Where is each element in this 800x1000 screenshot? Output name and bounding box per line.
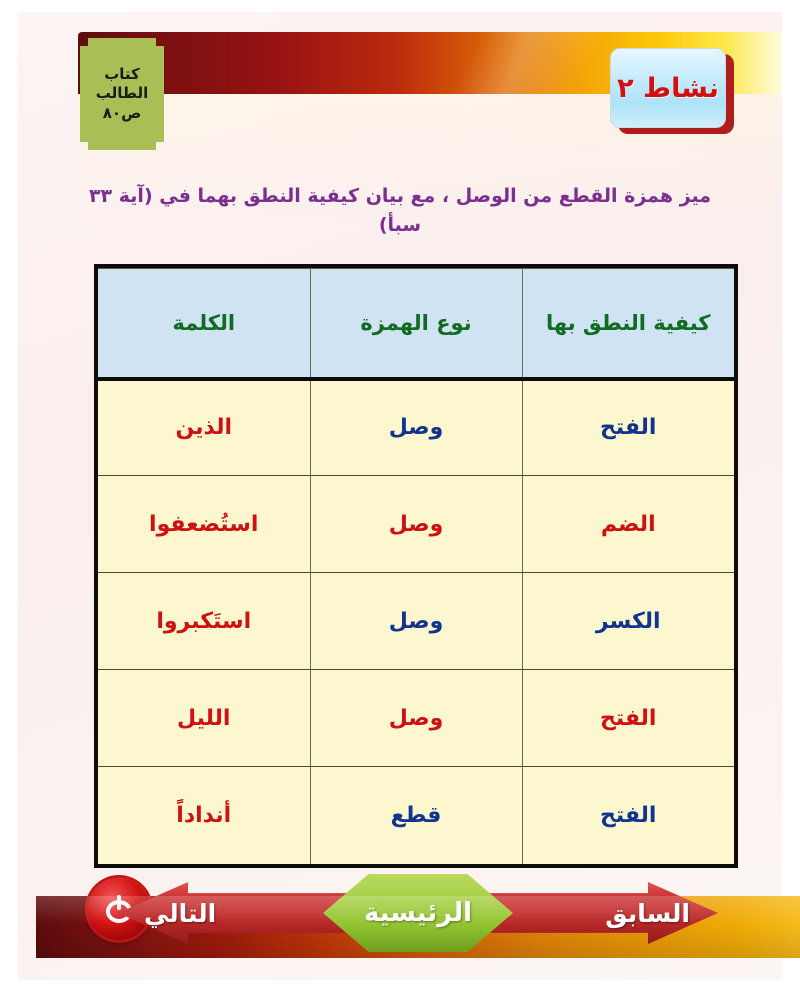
table-body: الفتحوصلالذينالضموصلاستُضعفواالكسروصلاست… [98,379,734,864]
table-row: الفتحقطعأنداداً [98,767,734,864]
activity-badge: نشاط ٢ [610,48,734,132]
cell-pronunciation: الفتح [522,670,734,767]
home-button[interactable]: الرئيسية [323,874,513,952]
table-row: الكسروصلاستَكبروا [98,573,734,670]
answers-table-container: كيفية النطق بها نوع الهمزة الكلمة الفتحو… [94,264,738,868]
cell-pronunciation: الفتح [522,767,734,864]
cell-word: أنداداً [98,767,310,864]
table-row: الفتحوصلالذين [98,379,734,476]
column-header-hamza-type: نوع الهمزة [310,269,522,379]
activity-badge-label: نشاط ٢ [610,48,726,128]
cell-pronunciation: الضم [522,476,734,573]
slide-background: كتاب الطالب ص٨٠ نشاط ٢ ميز همزة القطع من… [18,12,782,980]
next-button-label: التالي [144,899,216,928]
home-button-label: الرئيسية [364,898,472,928]
table-row: الضموصلاستُضعفوا [98,476,734,573]
cell-word: استُضعفوا [98,476,310,573]
column-header-pronunciation: كيفية النطق بها [522,269,734,379]
cell-hamza-type: وصل [310,379,522,476]
cell-hamza-type: وصل [310,670,522,767]
cell-word: الليل [98,670,310,767]
cell-hamza-type: قطع [310,767,522,864]
cell-word: استَكبروا [98,573,310,670]
column-header-word: الكلمة [98,269,310,379]
book-badge-line-3: ص٨٠ [103,105,142,122]
table-row: الفتحوصلالليل [98,670,734,767]
table-header-row: كيفية النطق بها نوع الهمزة الكلمة [98,269,734,379]
slide-root: كتاب الطالب ص٨٠ نشاط ٢ ميز همزة القطع من… [0,0,800,1000]
instruction-text: ميز همزة القطع من الوصل ، مع بيان كيفية … [88,182,712,239]
book-reference-badge: كتاب الطالب ص٨٠ [80,38,164,150]
navigation-cluster: التالي السابق الرئيسية [118,874,718,952]
table-header: كيفية النطق بها نوع الهمزة الكلمة [98,269,734,379]
cell-pronunciation: الكسر [522,573,734,670]
book-badge-line-1: كتاب [104,66,140,83]
answers-table: كيفية النطق بها نوع الهمزة الكلمة الفتحو… [98,268,734,864]
previous-button-label: السابق [605,899,690,928]
cell-pronunciation: الفتح [522,379,734,476]
cell-hamza-type: وصل [310,476,522,573]
cell-word: الذين [98,379,310,476]
bottom-navigation-bar: التالي السابق الرئيسية [36,896,800,958]
cell-hamza-type: وصل [310,573,522,670]
book-badge-line-2: الطالب [96,85,149,102]
